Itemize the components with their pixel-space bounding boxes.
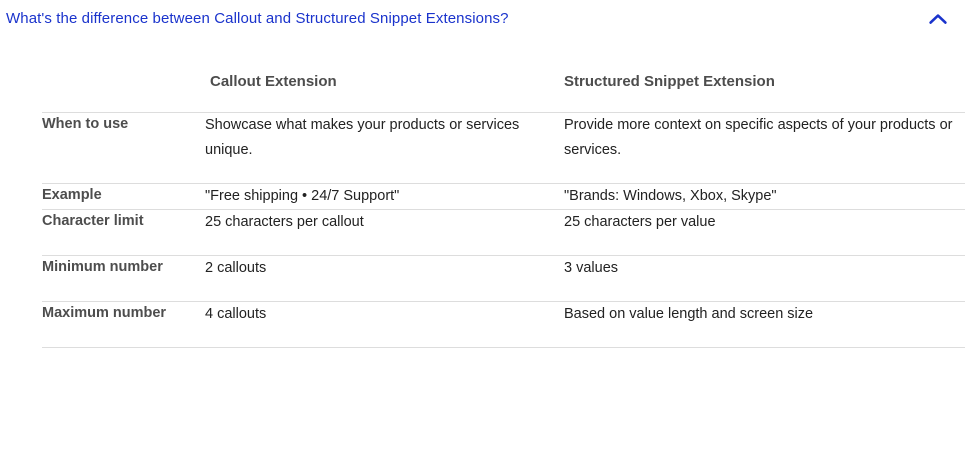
cell-callout-maximum-number: 4 callouts	[205, 302, 553, 348]
cell-callout-when-to-use: Showcase what makes your products or ser…	[205, 113, 553, 184]
table-row: Example "Free shipping • 24/7 Support" "…	[42, 184, 965, 210]
faq-question-text[interactable]: What's the difference between Callout an…	[6, 10, 509, 28]
row-label-when-to-use: When to use	[42, 113, 205, 184]
row-label-example: Example	[42, 184, 205, 210]
row-label-maximum-number: Maximum number	[42, 302, 205, 348]
cell-snippet-minimum-number: 3 values	[553, 256, 965, 302]
column-header-attribute	[42, 58, 205, 113]
table-body: When to use Showcase what makes your pro…	[42, 113, 965, 348]
cell-snippet-example: "Brands: Windows, Xbox, Skype"	[553, 184, 965, 210]
row-label-minimum-number: Minimum number	[42, 256, 205, 302]
table-row: When to use Showcase what makes your pro…	[42, 113, 965, 184]
row-label-character-limit: Character limit	[42, 210, 205, 256]
cell-callout-example: "Free shipping • 24/7 Support"	[205, 184, 553, 210]
table-row: Minimum number 2 callouts 3 values	[42, 256, 965, 302]
extension-comparison-table: Callout Extension Structured Snippet Ext…	[42, 58, 965, 348]
faq-question-toggle[interactable]: What's the difference between Callout an…	[0, 0, 975, 44]
table-row: Maximum number 4 callouts Based on value…	[42, 302, 965, 348]
cell-callout-minimum-number: 2 callouts	[205, 256, 553, 302]
cell-snippet-maximum-number: Based on value length and screen size	[553, 302, 965, 348]
cell-callout-character-limit: 25 characters per callout	[205, 210, 553, 256]
column-header-structured-snippet-extension: Structured Snippet Extension	[553, 58, 965, 113]
table-row: Character limit 25 characters per callou…	[42, 210, 965, 256]
column-header-callout-extension: Callout Extension	[205, 58, 553, 113]
cell-snippet-character-limit: 25 characters per value	[553, 210, 965, 256]
table-header-row: Callout Extension Structured Snippet Ext…	[42, 58, 965, 113]
faq-panel: What's the difference between Callout an…	[0, 0, 975, 473]
table-header: Callout Extension Structured Snippet Ext…	[42, 58, 965, 113]
chevron-up-icon[interactable]	[925, 9, 951, 29]
cell-snippet-when-to-use: Provide more context on specific aspects…	[553, 113, 965, 184]
